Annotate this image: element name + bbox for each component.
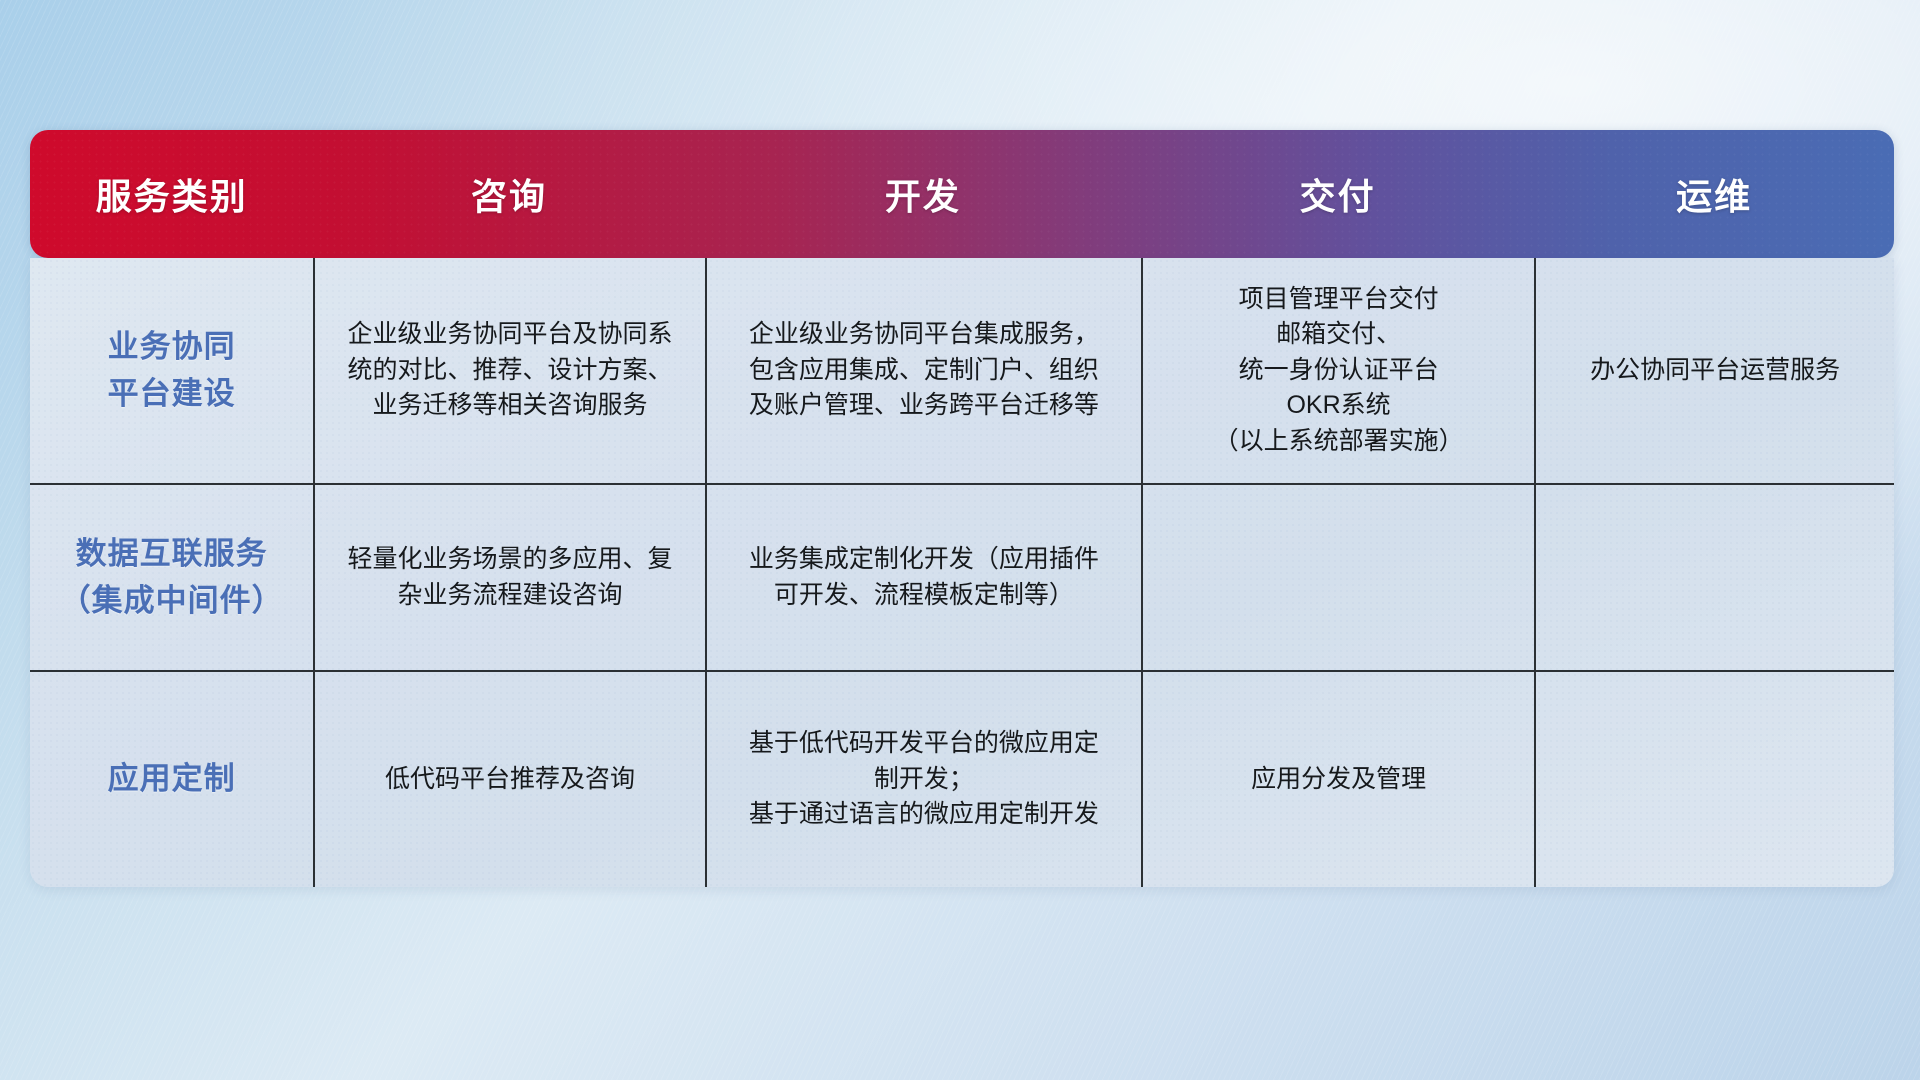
cell-consulting: 低代码平台推荐及咨询 — [313, 672, 704, 887]
table-row: 业务协同 平台建设 企业级业务协同平台及协同系 统的对比、推荐、设计方案、 业务… — [30, 258, 1894, 483]
table-header-row: 服务类别 咨询 开发 交付 运维 — [30, 130, 1894, 258]
table-row: 应用定制 低代码平台推荐及咨询 基于低代码开发平台的微应用定 制开发； 基于通过… — [30, 670, 1894, 887]
cell-operations: 办公协同平台运营服务 — [1534, 258, 1894, 483]
cell-operations — [1534, 672, 1894, 887]
column-header-operations: 运维 — [1534, 130, 1894, 258]
row-category-label: 业务协同 平台建设 — [30, 258, 313, 483]
cell-consulting: 轻量化业务场景的多应用、复 杂业务流程建设咨询 — [313, 485, 704, 670]
cell-delivery: 应用分发及管理 — [1141, 672, 1534, 887]
column-header-delivery: 交付 — [1141, 130, 1534, 258]
table-row: 数据互联服务 （集成中间件） 轻量化业务场景的多应用、复 杂业务流程建设咨询 业… — [30, 483, 1894, 670]
cell-development: 基于低代码开发平台的微应用定 制开发； 基于通过语言的微应用定制开发 — [705, 672, 1141, 887]
table-body: 业务协同 平台建设 企业级业务协同平台及协同系 统的对比、推荐、设计方案、 业务… — [30, 258, 1894, 887]
cell-development: 企业级业务协同平台集成服务， 包含应用集成、定制门户、组织 及账户管理、业务跨平… — [705, 258, 1141, 483]
column-header-development: 开发 — [705, 130, 1141, 258]
column-header-consulting: 咨询 — [313, 130, 704, 258]
cell-delivery — [1141, 485, 1534, 670]
cell-operations — [1534, 485, 1894, 670]
cell-consulting: 企业级业务协同平台及协同系 统的对比、推荐、设计方案、 业务迁移等相关咨询服务 — [313, 258, 704, 483]
row-category-label: 应用定制 — [30, 672, 313, 887]
row-category-label: 数据互联服务 （集成中间件） — [30, 485, 313, 670]
service-category-table: 服务类别 咨询 开发 交付 运维 业务协同 平台建设 企业级业务协同平台及协同系… — [30, 130, 1894, 887]
cell-delivery: 项目管理平台交付 邮箱交付、 统一身份认证平台 OKR系统 （以上系统部署实施） — [1141, 258, 1534, 483]
column-header-service-category: 服务类别 — [30, 130, 313, 258]
cell-development: 业务集成定制化开发（应用插件 可开发、流程模板定制等） — [705, 485, 1141, 670]
